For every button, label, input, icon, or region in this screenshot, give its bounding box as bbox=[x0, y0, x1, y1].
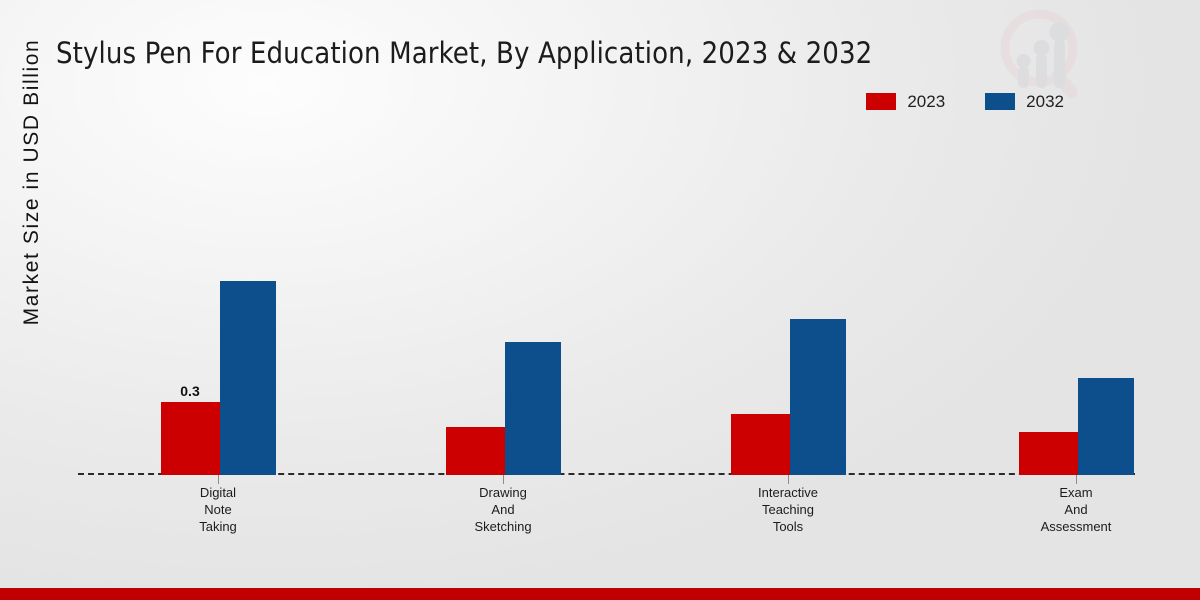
bar-2023-interactive-teaching-tools[interactable] bbox=[731, 414, 790, 475]
label-line-3: Tools bbox=[773, 519, 803, 534]
bar-2023-exam-and-assessment[interactable] bbox=[1019, 432, 1078, 475]
x-axis-tick bbox=[218, 475, 219, 484]
bar-group-digital-note-taking: 0.3 Digital Note Taking bbox=[133, 130, 303, 475]
bar-2023-digital-note-taking[interactable]: 0.3 bbox=[161, 402, 220, 475]
x-axis-label-drawing-and-sketching: Drawing And Sketching bbox=[474, 484, 531, 535]
legend-item-2023[interactable]: 2023 bbox=[866, 93, 945, 110]
legend-item-2032[interactable]: 2032 bbox=[985, 93, 1064, 110]
x-axis-tick bbox=[788, 475, 789, 484]
bar-2023-drawing-and-sketching[interactable] bbox=[446, 427, 505, 475]
x-axis-label-digital-note-taking: Digital Note Taking bbox=[199, 484, 237, 535]
bar-group-exam-and-assessment: Exam And Assessment bbox=[991, 130, 1161, 475]
label-line-1: Interactive bbox=[758, 485, 818, 500]
legend-swatch-2032 bbox=[985, 93, 1015, 110]
label-line-2: Teaching bbox=[762, 502, 814, 517]
label-line-2: And bbox=[491, 502, 514, 517]
bar-value-label: 0.3 bbox=[180, 383, 199, 399]
bar-2032-digital-note-taking[interactable] bbox=[220, 281, 276, 475]
magnifier-ring-icon bbox=[1005, 14, 1080, 101]
label-line-2: And bbox=[1064, 502, 1087, 517]
label-line-1: Exam bbox=[1059, 485, 1092, 500]
legend-label-2032: 2032 bbox=[1026, 93, 1064, 110]
x-axis-label-interactive-teaching-tools: Interactive Teaching Tools bbox=[758, 484, 818, 535]
label-line-1: Digital bbox=[200, 485, 236, 500]
x-axis-label-exam-and-assessment: Exam And Assessment bbox=[1041, 484, 1112, 535]
legend-swatch-2023 bbox=[866, 93, 896, 110]
label-line-3: Assessment bbox=[1041, 519, 1112, 534]
bar-chart-icon bbox=[1018, 40, 1065, 88]
bar-group-interactive-teaching-tools: Interactive Teaching Tools bbox=[703, 130, 873, 475]
x-axis-tick bbox=[1076, 475, 1077, 484]
label-line-3: Sketching bbox=[474, 519, 531, 534]
y-axis-title: Market Size in USD Billion bbox=[20, 0, 44, 402]
trend-dots-icon bbox=[1017, 22, 1070, 68]
bar-2032-drawing-and-sketching[interactable] bbox=[505, 342, 561, 475]
label-line-3: Taking bbox=[199, 519, 237, 534]
bar-2032-exam-and-assessment[interactable] bbox=[1078, 378, 1134, 475]
bar-group-drawing-and-sketching: Drawing And Sketching bbox=[418, 130, 588, 475]
label-line-2: Note bbox=[204, 502, 231, 517]
x-axis-tick bbox=[503, 475, 504, 484]
footer-accent-bar bbox=[0, 588, 1200, 600]
chart-legend: 2023 2032 bbox=[866, 93, 1064, 110]
label-line-1: Drawing bbox=[479, 485, 527, 500]
bar-2032-interactive-teaching-tools[interactable] bbox=[790, 319, 846, 475]
legend-label-2023: 2023 bbox=[907, 93, 945, 110]
plot-area: 0.3 Digital Note Taking Drawing And Sket… bbox=[78, 130, 1135, 475]
chart-title: Stylus Pen For Education Market, By Appl… bbox=[56, 36, 872, 70]
chart-canvas: Stylus Pen For Education Market, By Appl… bbox=[0, 0, 1200, 600]
